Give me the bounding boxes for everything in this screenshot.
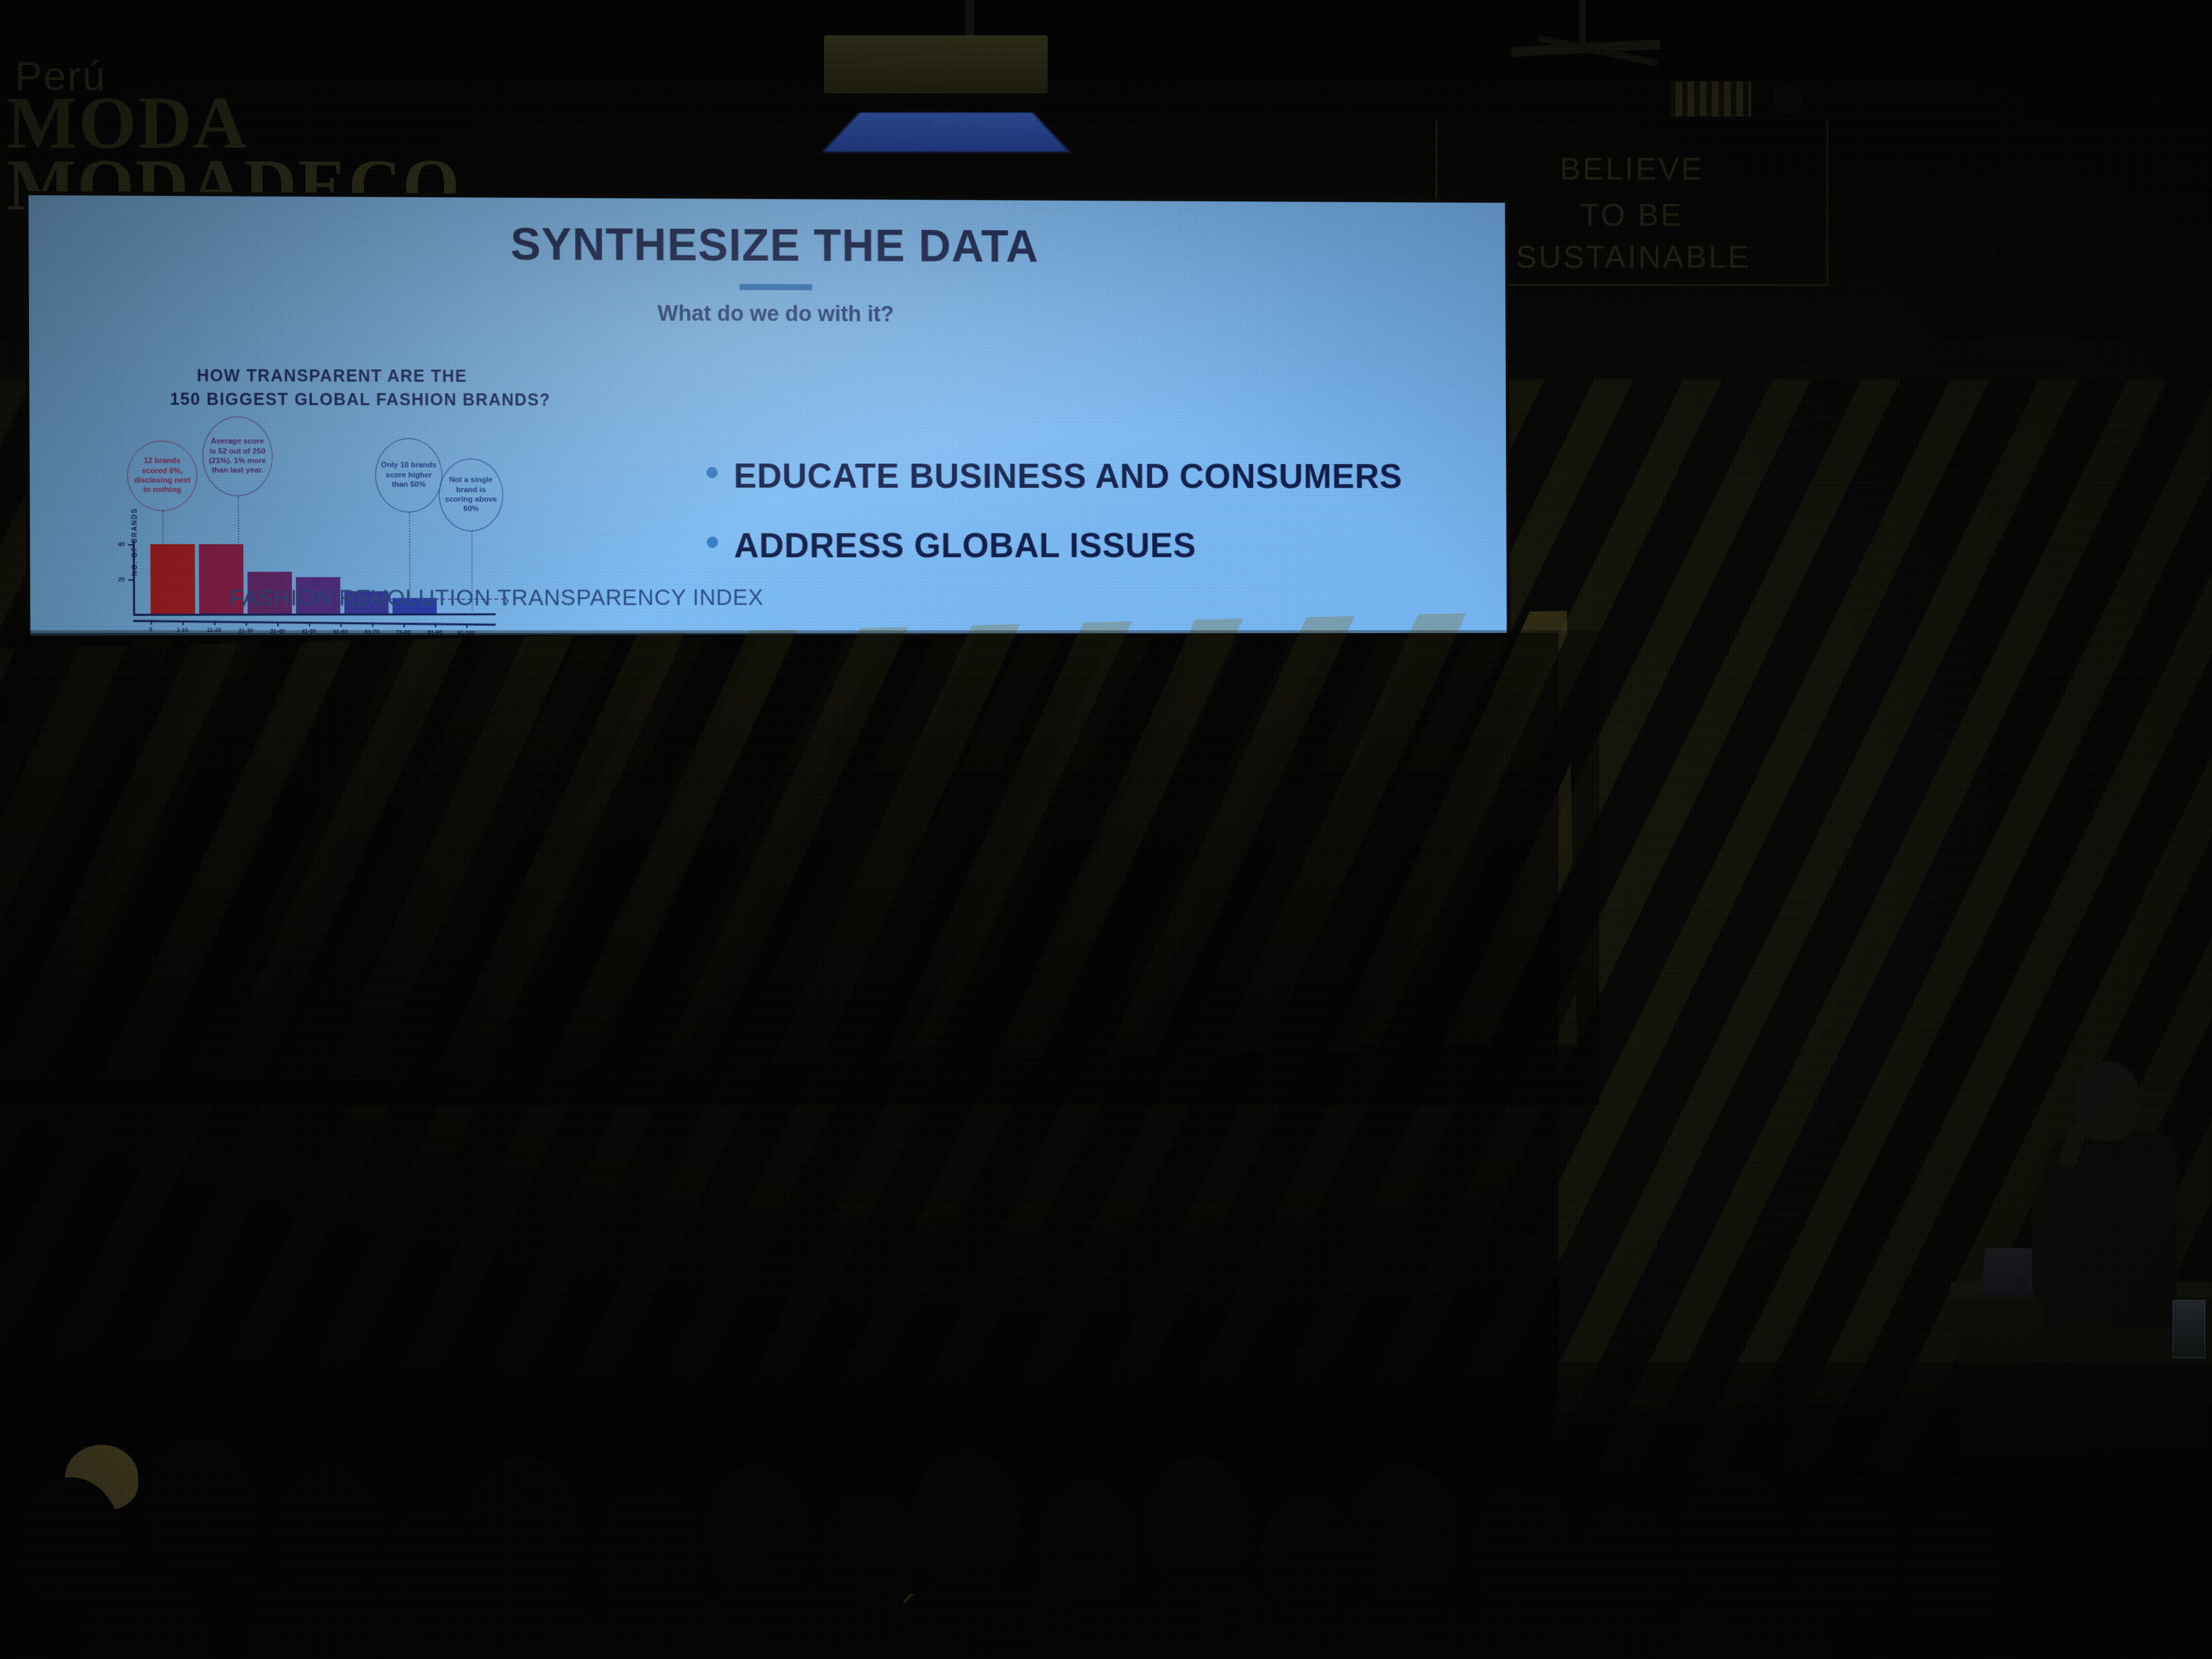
bullet-label: EDUCATE BUSINESS AND CONSUMERS [733,456,1402,497]
audience-head [1796,1494,1898,1620]
audience-head [146,1437,254,1572]
projector-mount [965,0,975,39]
x-tick-mark [150,620,152,625]
x-tick-mark [277,621,279,626]
y-tick-mark [128,544,134,546]
audience-head [20,1477,122,1606]
annotation-bubble-zero-scores: 12 brands scored 0%, disclosing next to … [127,441,197,511]
x-tick-mark [403,623,405,628]
bullet-dot-icon [707,537,718,548]
projector-light-glow [823,112,1069,152]
audience-head [1904,1511,1999,1628]
wall-banner-line-1: BELIEVE [1435,150,1828,187]
conference-room-photo: Perú MODA MODADECO 2019 BELIEVE TO BE SU… [0,0,2212,1659]
audience-head [705,1464,810,1596]
audience-head [1145,1457,1250,1589]
audience-head [1349,1464,1457,1599]
annotation-bubble-above-sixty: Not a single brand is scoring above 60% [438,459,503,531]
y-axis-label: NO. OF BRANDS [131,505,138,579]
x-tick-mark [340,622,342,627]
slide-subtitle: What do we do with it? [29,298,1506,329]
audience-head [1261,1494,1355,1613]
y-tick-label: 20 [118,575,125,582]
title-underline-rule [739,284,812,290]
screen-surface: SYNTHESIZE THE DATA What do we do with i… [28,195,1507,636]
infographic-heading-line-2: 150 BIGGEST GLOBAL FASHION BRANDS? [170,390,551,410]
x-tick-mark [214,621,216,626]
x-tick-mark [466,623,468,628]
x-tick-mark [372,622,373,627]
bullet-dot-icon [706,467,718,478]
bullet-item-2: ADDRESS GLOBAL ISSUES [707,526,1454,567]
x-tick-mark [246,621,247,626]
ceiling-projector [824,35,1048,94]
page-title: SYNTHESIZE THE DATA [28,216,1505,274]
water-glass [2173,1300,2205,1358]
x-axis-extended-line [133,620,495,626]
y-tick-mark [128,579,134,580]
presentation-slide: SYNTHESIZE THE DATA What do we do with i… [28,195,1507,636]
x-tick-mark [309,621,310,626]
audience-head [1681,1467,1788,1601]
y-tick-label: 40 [118,541,125,548]
bullet-list: EDUCATE BUSINESS AND CONSUMERSADDRESS GL… [706,456,1454,596]
projector-vent-grille [1670,81,1751,117]
audience-head [278,1464,380,1589]
bullet-label: ADDRESS GLOBAL ISSUES [734,526,1196,567]
x-tick-mark [435,623,436,628]
projector-lens-icon [1773,84,1803,114]
bullet-item-1: EDUCATE BUSINESS AND CONSUMERS [706,456,1453,497]
screen-frame: SYNTHESIZE THE DATA What do we do with i… [24,191,1511,640]
annotation-bubble-average-score: Average score is 52 out of 250 (21%). 1%… [203,416,273,496]
infographic-heading-line-1: HOW TRANSPARENT ARE THE [197,367,467,387]
projection-screen: SYNTHESIZE THE DATA What do we do with i… [24,191,1511,640]
annotation-bubble-above-fifty: Only 10 brands score higher than 50% [375,438,443,512]
x-tick-mark [182,620,184,625]
audience-head [912,1450,1020,1586]
